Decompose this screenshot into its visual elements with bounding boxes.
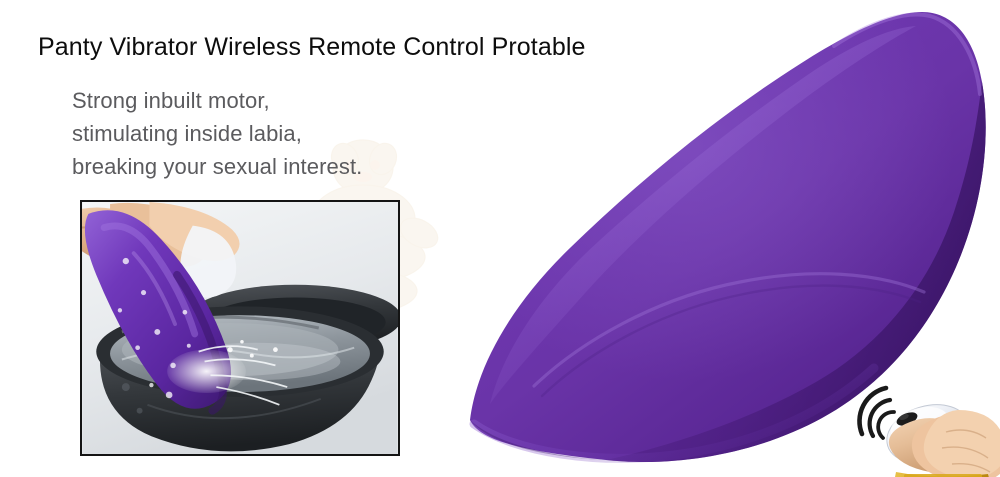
feature-copy-line-2: stimulating inside labia, [72,117,362,150]
feature-copy-line-3: breaking your sexual interest. [72,150,362,183]
waterproof-demo-photo [80,200,400,456]
feature-copy-line-1: Strong inbuilt motor, [72,84,362,117]
product-banner: Panty Vibrator Wireless Remote Control P… [0,0,1000,477]
feature-copy-block: Strong inbuilt motor, stimulating inside… [72,84,362,183]
wireless-remote-in-hand [818,368,1000,477]
page-title: Panty Vibrator Wireless Remote Control P… [38,33,586,62]
